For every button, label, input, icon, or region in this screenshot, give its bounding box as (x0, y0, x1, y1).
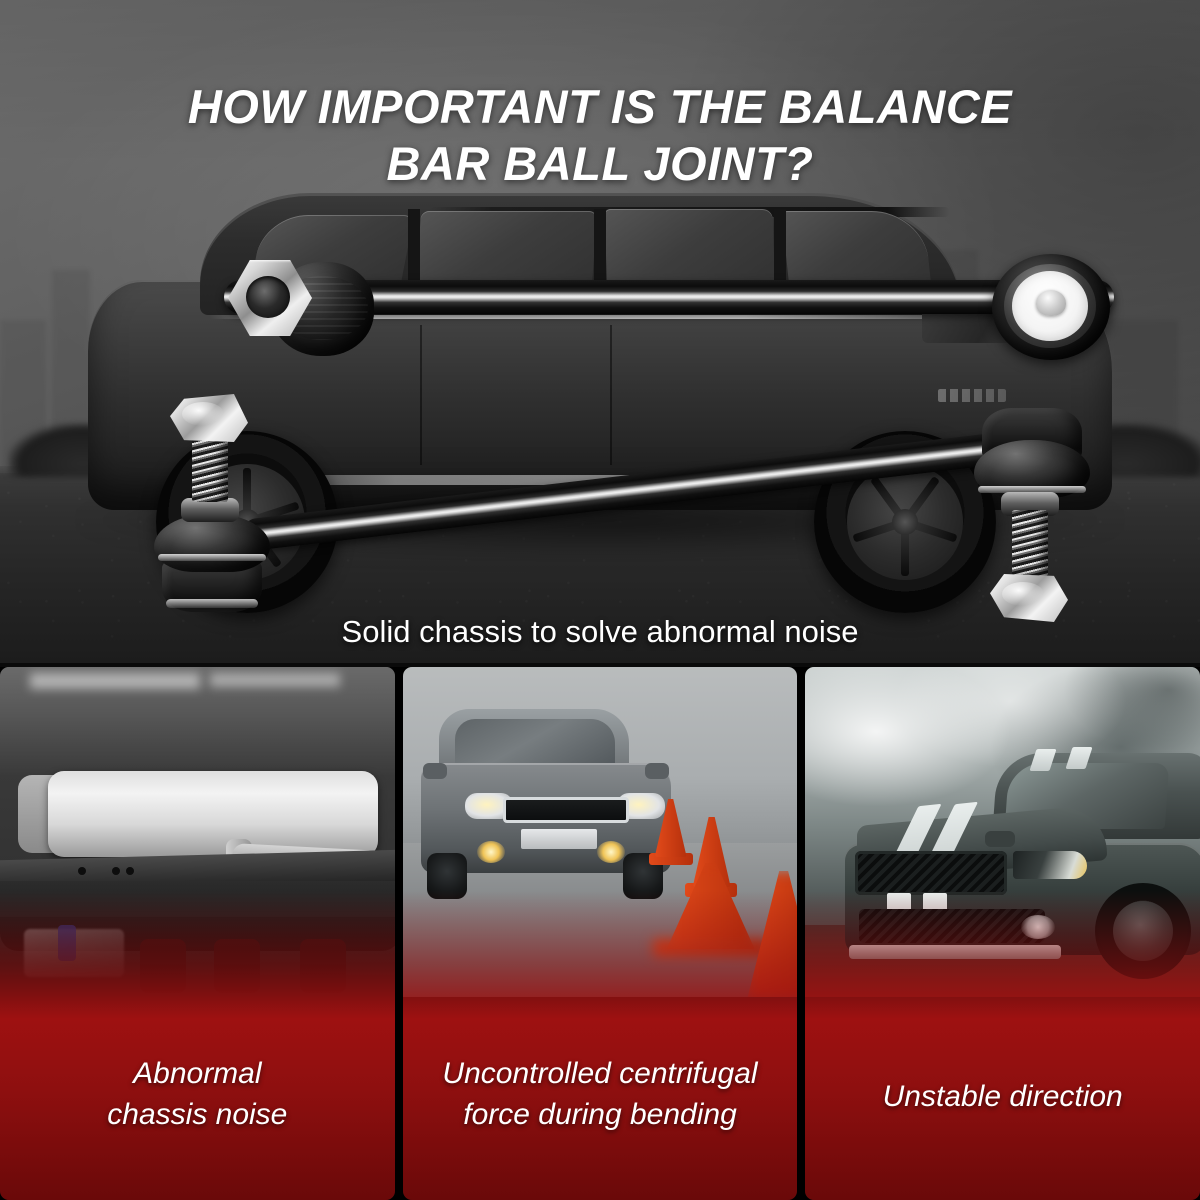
joint-housing-rim (166, 599, 258, 608)
panel-abnormal-noise[interactable]: Abnormal chassis noise (0, 667, 395, 1200)
product-infographic: HOW IMPORTANT IS THE BALANCE BAR BALL JO… (0, 0, 1200, 1200)
caption-line-1: Uncontrolled centrifugal (442, 1054, 757, 1094)
benefit-panels: Abnormal chassis noise (0, 667, 1200, 1200)
threaded-stud (1012, 510, 1048, 576)
nut-bore (246, 276, 290, 318)
hero-section: HOW IMPORTANT IS THE BALANCE BAR BALL JO… (0, 0, 1200, 663)
panel-caption: Uncontrolled centrifugal force during be… (403, 995, 798, 1200)
link-bar-lower (240, 429, 1028, 552)
ball-joint-upper-left (224, 246, 370, 364)
caption-line-2: force during bending (442, 1095, 757, 1135)
panel-caption: Unstable direction (805, 995, 1200, 1200)
headline: HOW IMPORTANT IS THE BALANCE BAR BALL JO… (0, 78, 1200, 193)
caption-line-1: Unstable direction (883, 1077, 1123, 1117)
headline-line-1: HOW IMPORTANT IS THE BALANCE (0, 78, 1200, 135)
rubber-boot (154, 514, 270, 572)
threaded-stud (192, 436, 228, 502)
panel-caption: Abnormal chassis noise (0, 995, 395, 1200)
ball-joint-lower-left (148, 394, 276, 610)
panel-unstable-direction[interactable]: Unstable direction (805, 667, 1200, 1200)
panel-centrifugal-force[interactable]: Uncontrolled centrifugal force during be… (403, 667, 798, 1200)
nut-highlight (1002, 582, 1044, 606)
ball-joint-lower-right (968, 406, 1096, 622)
sway-bar-link-upper (128, 232, 1088, 367)
nut-highlight (182, 402, 224, 426)
ball-joint-upper-right (988, 252, 1114, 362)
sway-bar-link-lower (130, 388, 1100, 633)
boot-band (158, 554, 266, 561)
headline-line-2: BAR BALL JOINT? (0, 135, 1200, 192)
hero-subtitle: Solid chassis to solve abnormal noise (0, 614, 1200, 650)
caption-line-2: chassis noise (107, 1095, 287, 1135)
caption-line-1: Abnormal (107, 1054, 287, 1094)
joint-stud-top (1036, 290, 1066, 316)
